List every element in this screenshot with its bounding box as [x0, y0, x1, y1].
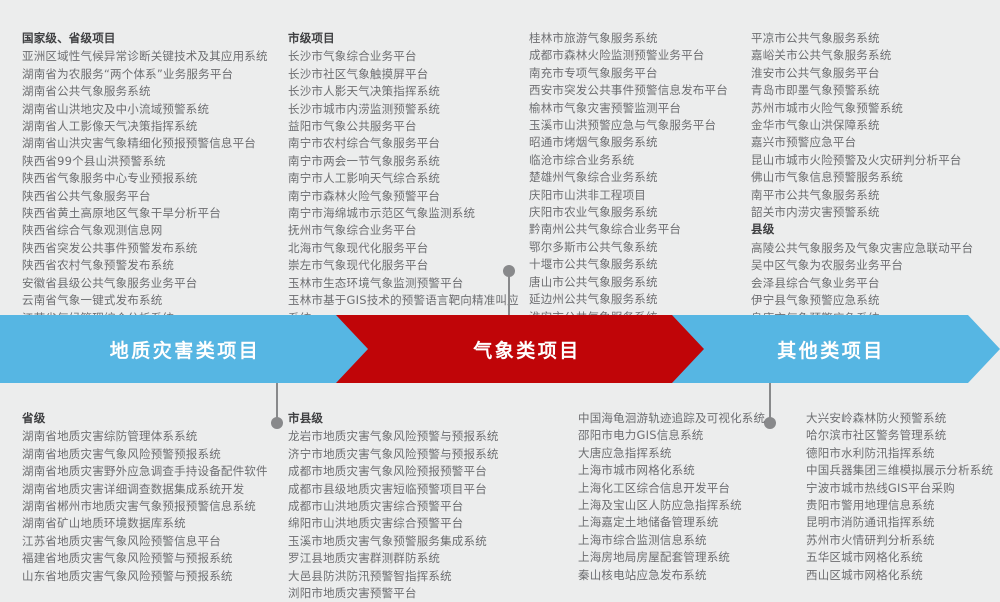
- list-item: 大唐应急指挥系统: [578, 445, 788, 462]
- list-item: 楚雄州气象综合业务系统: [529, 169, 745, 186]
- list-item: 五华区城市网格化系统: [806, 549, 996, 566]
- list-item: 伊宁县气象预警应急系统: [751, 292, 991, 309]
- list-item: 崇左市气象现代化服务平台: [288, 257, 524, 274]
- list-item: 成都市森林火险监测预警业务平台: [529, 47, 745, 64]
- infographic-root: 国家级、省级项目 亚洲区域性气候异常诊断关键技术及其应用系统 湖南省为农服务“两…: [0, 0, 1000, 564]
- list-item: 唐山市公共气象服务系统: [529, 274, 745, 291]
- top-column-municipal-continued: 桂林市旅游气象服务系统 成都市森林火险监测预警业务平台 南充市专项气象服务平台 …: [529, 30, 745, 343]
- list-item: 庆阳市山洪非工程项目: [529, 187, 745, 204]
- list-item: 湖南省山洪地灾及中小流域预警系统: [22, 101, 280, 118]
- list-item: 临沧市综合业务系统: [529, 152, 745, 169]
- list-item: 安徽省县级公共气象服务业务平台: [22, 275, 280, 292]
- top-column-municipal: 市级项目 长沙市气象综合业务平台 长沙市社区气象触摸屏平台 长沙市人影天气决策指…: [288, 30, 524, 344]
- list-item: 北海市气象现代化服务平台: [288, 240, 524, 257]
- banner-segment-meteorology[interactable]: 气象类项目: [336, 315, 736, 383]
- list-item: 德阳市水利防汛指挥系统: [806, 445, 996, 462]
- list-item: 湖南省为农服务“两个体系”业务服务平台: [22, 66, 280, 83]
- list-item: 庆阳市农业气象服务系统: [529, 204, 745, 221]
- list-item: 宁波市城市热线GIS平台采购: [806, 480, 996, 497]
- column-header: 市县级: [288, 410, 554, 427]
- list-item: 江苏省地质灾害气象风险预警信息平台: [22, 533, 284, 550]
- list-item: 成都市地质灾害气象风险预报预警平台: [288, 463, 554, 480]
- list-item: 中国兵器集团三维模拟展示分析系统: [806, 462, 996, 479]
- column-header: 国家级、省级项目: [22, 30, 280, 47]
- list-item: 嘉峪关市公共气象服务系统: [751, 47, 991, 64]
- list-item: 南宁市农村综合气象服务平台: [288, 135, 524, 152]
- banner-segment-label: 气象类项目: [473, 336, 581, 363]
- list-item: 高陵公共气象服务及气象灾害应急联动平台: [751, 240, 991, 257]
- list-item: 成都市县级地质灾害短临预警项目平台: [288, 481, 554, 498]
- list-item: 韶关市内涝灾害预警系统: [751, 204, 991, 221]
- list-item: 玉溪市地质灾害气象预警服务集成系统: [288, 533, 554, 550]
- list-item: 嘉兴市预警应急平台: [751, 134, 991, 151]
- list-item: 上海嘉定土地储备管理系统: [578, 514, 788, 531]
- connector-stem: [508, 275, 511, 317]
- list-item: 绵阳市山洪地质灾害综合预警平台: [288, 515, 554, 532]
- list-item: 亚洲区域性气候异常诊断关键技术及其应用系统: [22, 48, 280, 65]
- list-item: 上海房地局房屋配套管理系统: [578, 549, 788, 566]
- list-item: 成都市山洪地质灾害综合预警平台: [288, 498, 554, 515]
- list-item: 苏州市城市火险气象预警系统: [751, 100, 991, 117]
- list-item: 湖南省山洪灾害气象精细化预报预警信息平台: [22, 135, 280, 152]
- list-item: 湖南省公共气象服务系统: [22, 83, 280, 100]
- category-banner: 地质灾害类项目 气象类项目 其他类项目: [0, 315, 1000, 383]
- list-item: 南宁市海绵城市示范区气象监测系统: [288, 205, 524, 222]
- list-item: 贵阳市警用地理信息系统: [806, 497, 996, 514]
- list-item: 陕西省99个县山洪预警系统: [22, 153, 280, 170]
- list-item: 湖南省人工影像天气决策指挥系统: [22, 118, 280, 135]
- list-item: 浏阳市地质灾害预警平台: [288, 585, 554, 602]
- list-item: 平凉市公共气象服务系统: [751, 30, 991, 47]
- list-item: 抚州市气象综合业务平台: [288, 222, 524, 239]
- list-item: 佛山市气象信息预警服务系统: [751, 169, 991, 186]
- banner-segment-other[interactable]: 其他类项目: [672, 315, 1000, 383]
- list-item: 龙岩市地质灾害气象风险预警与预报系统: [288, 428, 554, 445]
- list-item: 陕西省黄土高原地区气象干旱分析平台: [22, 205, 280, 222]
- list-item: 延边州公共气象服务系统: [529, 291, 745, 308]
- list-item: 鄂尔多斯市公共气象系统: [529, 239, 745, 256]
- list-item: 南宁市人工影响天气综合系统: [288, 170, 524, 187]
- list-item: 陕西省综合气象观测信息网: [22, 222, 280, 239]
- list-item: 益阳市气象公共服务平台: [288, 118, 524, 135]
- list-item: 福建省地质灾害气象风险预警与预报系统: [22, 550, 284, 567]
- list-item: 云南省气象一键式发布系统: [22, 292, 280, 309]
- banner-segment-label: 地质灾害类项目: [110, 336, 261, 363]
- top-column-county: 平凉市公共气象服务系统 嘉峪关市公共气象服务系统 淮安市公共气象服务平台 青岛市…: [751, 30, 991, 327]
- list-item: 陕西省突发公共事件预警发布系统: [22, 240, 280, 257]
- list-item: 淮安市公共气象服务平台: [751, 65, 991, 82]
- list-item: 陕西省公共气象服务平台: [22, 188, 280, 205]
- list-item: 上海市综合监测信息系统: [578, 532, 788, 549]
- column-sub-header-county: 县级: [751, 221, 991, 238]
- bottom-project-lists: 省级 湖南省地质灾害综防管理体系系统 湖南省地质灾害气象风险预警预报系统 湖南省…: [0, 383, 1000, 564]
- list-item: 湖南省地质灾害气象风险预警预报系统: [22, 446, 284, 463]
- top-project-lists: 国家级、省级项目 亚洲区域性气候异常诊断关键技术及其应用系统 湖南省为农服务“两…: [0, 0, 1000, 312]
- connector-meteorology: [503, 265, 515, 317]
- list-item: 长沙市城市内涝监测预警系统: [288, 101, 524, 118]
- list-item: 中国海龟洄游轨迹追踪及可视化系统: [578, 410, 788, 427]
- bottom-column-provincial: 省级 湖南省地质灾害综防管理体系系统 湖南省地质灾害气象风险预警预报系统 湖南省…: [22, 410, 284, 585]
- list-item: 玉林市生态环境气象监测预警平台: [288, 275, 524, 292]
- list-item: 南宁市森林火险气象预警平台: [288, 188, 524, 205]
- bottom-column-municipal-county: 市县级 龙岩市地质灾害气象风险预警与预报系统 济宁市地质灾害气象风险预警与预报系…: [288, 410, 554, 602]
- column-header: 省级: [22, 410, 284, 427]
- list-item: 昭通市烤烟气象服务系统: [529, 134, 745, 151]
- list-item: 上海市城市网格化系统: [578, 462, 788, 479]
- list-item: 西山区城市网格化系统: [806, 567, 996, 584]
- bottom-column-other-a: 中国海龟洄游轨迹追踪及可视化系统 邵阳市电力GIS信息系统 大唐应急指挥系统 上…: [578, 410, 788, 584]
- list-item: 上海及宝山区人防应急指挥系统: [578, 497, 788, 514]
- list-item: 长沙市人影天气决策指挥系统: [288, 83, 524, 100]
- list-item: 陕西省农村气象预警发布系统: [22, 257, 280, 274]
- list-item: 邵阳市电力GIS信息系统: [578, 427, 788, 444]
- list-item: 陕西省气象服务中心专业预报系统: [22, 170, 280, 187]
- list-item: 西安市突发公共事件预警信息发布平台: [529, 82, 745, 99]
- list-item: 金华市气象山洪保障系统: [751, 117, 991, 134]
- list-item: 榆林市气象灾害预警监测平台: [529, 100, 745, 117]
- list-item: 哈尔滨市社区警务管理系统: [806, 427, 996, 444]
- list-item: 南宁市两会一节气象服务系统: [288, 153, 524, 170]
- list-item: 昆山市城市火险预警及火灾研判分析平台: [751, 152, 991, 169]
- top-column-national-provincial: 国家级、省级项目 亚洲区域性气候异常诊断关键技术及其应用系统 湖南省为农服务“两…: [22, 30, 280, 344]
- list-item: 昆明市消防通讯指挥系统: [806, 514, 996, 531]
- banner-segment-geological[interactable]: 地质灾害类项目: [0, 315, 400, 383]
- list-item: 罗江县地质灾害群测群防系统: [288, 550, 554, 567]
- list-item: 长沙市气象综合业务平台: [288, 48, 524, 65]
- list-item: 长沙市社区气象触摸屏平台: [288, 66, 524, 83]
- list-item: 山东省地质灾害气象风险预警与预报系统: [22, 568, 284, 585]
- column-header: 市级项目: [288, 30, 524, 47]
- list-item: 上海化工区综合信息开发平台: [578, 480, 788, 497]
- list-item: 湖南省地质灾害详细调查数据集成系统开发: [22, 481, 284, 498]
- banner-segment-label: 其他类项目: [777, 336, 885, 363]
- list-item: 黔南州公共气象综合业务平台: [529, 221, 745, 238]
- list-item: 大邑县防洪防汛预警智指挥系统: [288, 568, 554, 585]
- list-item: 秦山核电站应急发布系统: [578, 567, 788, 584]
- list-item: 十堰市公共气象服务系统: [529, 256, 745, 273]
- list-item: 济宁市地质灾害气象风险预警与预报系统: [288, 446, 554, 463]
- list-item: 南平市公共气象服务系统: [751, 187, 991, 204]
- list-item: 湖南省地质灾害野外应急调查手持设备配件软件: [22, 463, 284, 480]
- list-item: 玉溪市山洪预警应急与气象服务平台: [529, 117, 745, 134]
- list-item: 会泽县综合气象业务平台: [751, 275, 991, 292]
- list-item: 青岛市即墨气象预警系统: [751, 82, 991, 99]
- list-item: 南充市专项气象服务平台: [529, 65, 745, 82]
- list-item: 湖南省地质灾害综防管理体系系统: [22, 428, 284, 445]
- list-item: 湖南省矿山地质环境数据库系统: [22, 515, 284, 532]
- list-item: 吴中区气象为农服务业务平台: [751, 257, 991, 274]
- list-item: 湖南省郴州市地质灾害气象预报预警信息系统: [22, 498, 284, 515]
- list-item: 大兴安岭森林防火预警系统: [806, 410, 996, 427]
- list-item: 苏州市火情研判分析系统: [806, 532, 996, 549]
- list-item: 桂林市旅游气象服务系统: [529, 30, 745, 47]
- bottom-column-other-b: 大兴安岭森林防火预警系统 哈尔滨市社区警务管理系统 德阳市水利防汛指挥系统 中国…: [806, 410, 996, 584]
